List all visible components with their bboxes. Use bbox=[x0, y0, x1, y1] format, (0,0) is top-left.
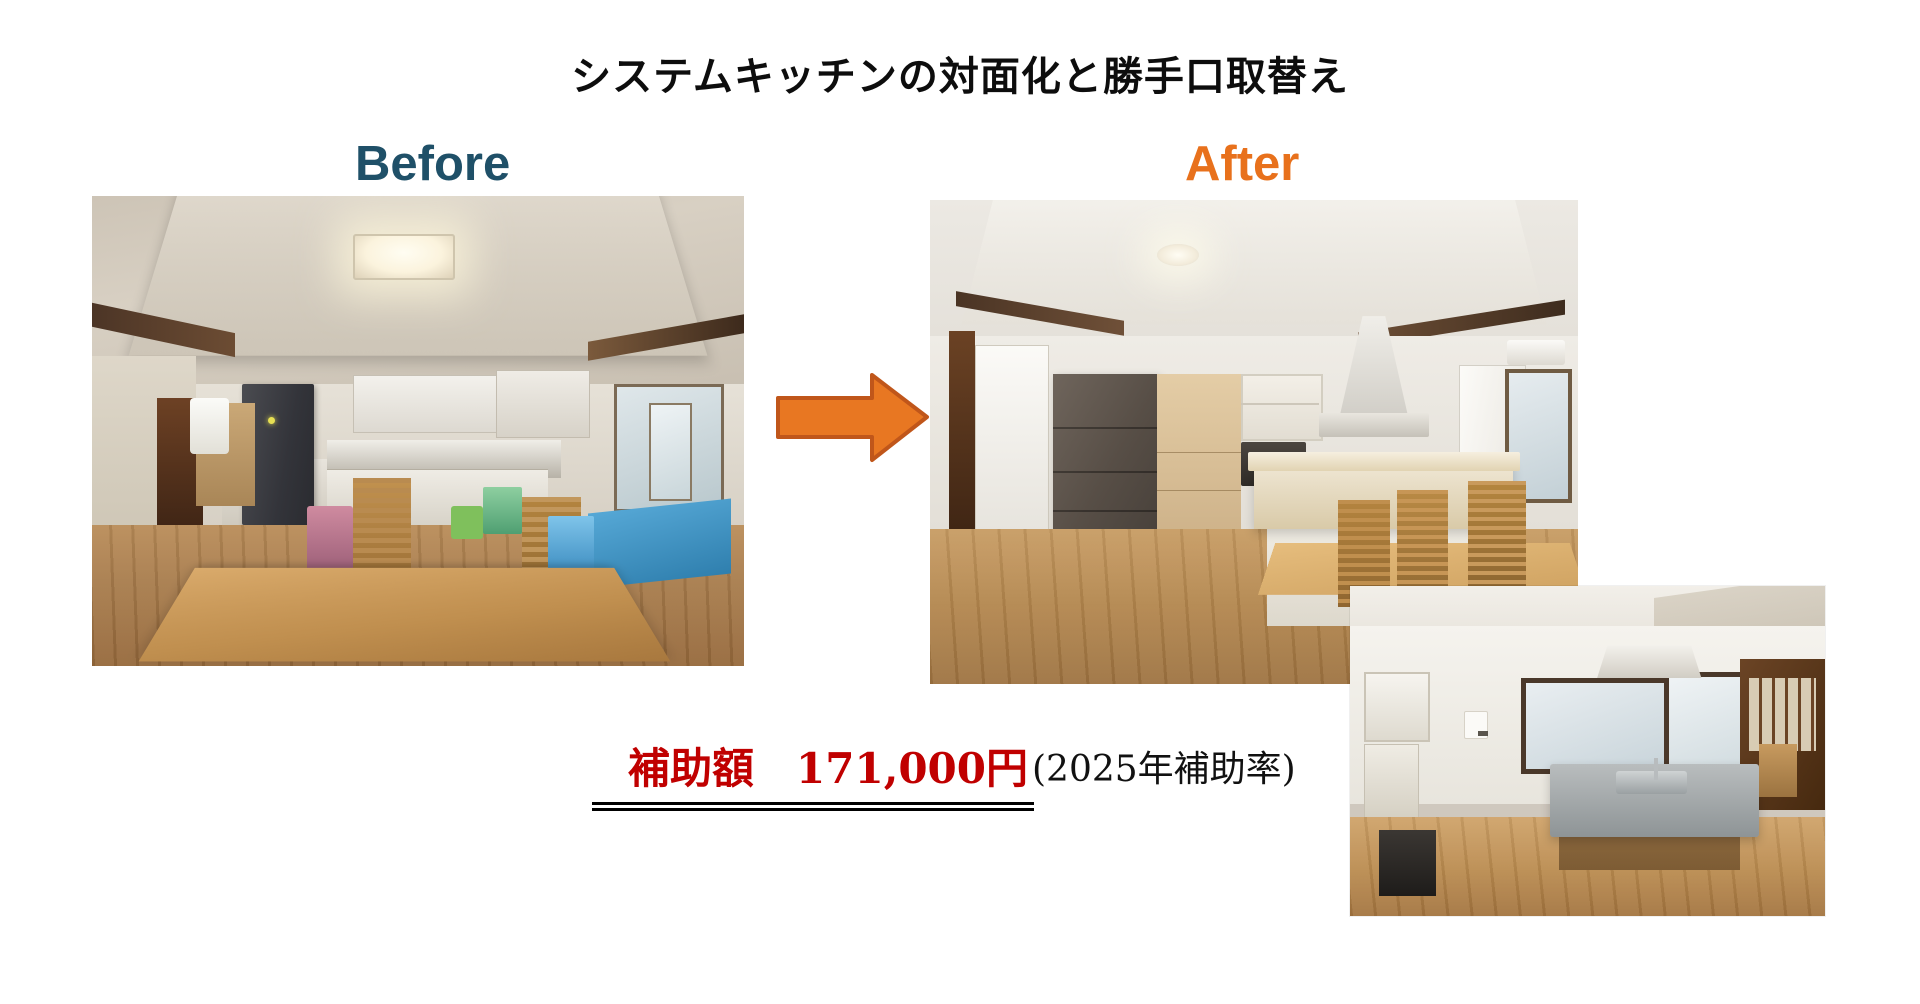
right-arrow-icon bbox=[775, 370, 930, 465]
slide-canvas: システムキッチンの対面化と勝手口取替え Before After bbox=[0, 0, 1920, 1004]
subsidy-spacer bbox=[754, 745, 796, 793]
ceiling-light-icon bbox=[353, 234, 455, 280]
downlight-icon bbox=[1157, 244, 1199, 266]
label-before: Before bbox=[355, 140, 510, 189]
subsidy-note: (2025年補助率) bbox=[1032, 749, 1296, 793]
photo-before bbox=[92, 196, 744, 666]
subsidy-amount: 171,000円 bbox=[796, 745, 1028, 793]
subsidy-double-underline bbox=[592, 802, 1034, 811]
subsidy-block: 補助額 171,000円 (2025年補助率) bbox=[0, 745, 1920, 835]
subsidy-label: 補助額 bbox=[628, 745, 754, 793]
page-title: システムキッチンの対面化と勝手口取替え bbox=[0, 44, 1920, 102]
label-after: After bbox=[1185, 140, 1299, 189]
